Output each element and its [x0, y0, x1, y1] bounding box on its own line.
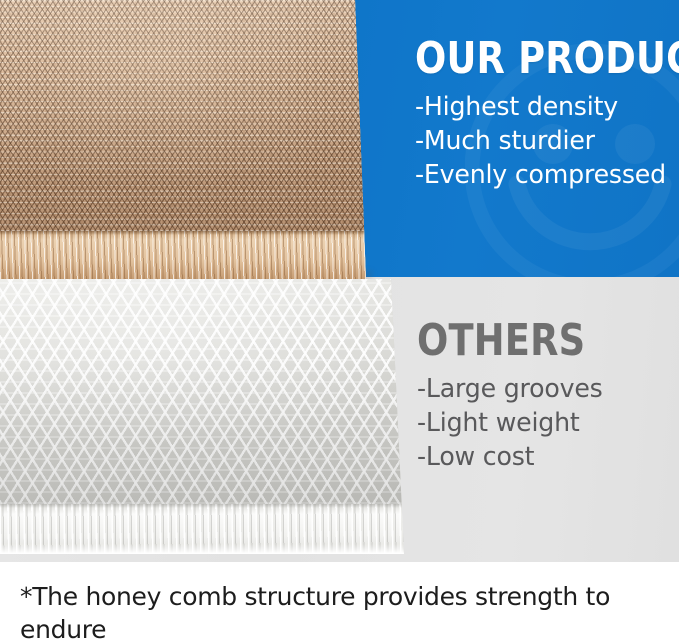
product-comparison-infographic: OUR PRODUCT -Highest density -Much sturd…: [0, 0, 679, 643]
our-product-heading: OUR PRODUCT: [415, 36, 655, 82]
others-bullet-1: -Large grooves: [417, 372, 667, 406]
others-heading: OTHERS: [417, 318, 657, 364]
footnote-text: *The honey comb structure provides stren…: [20, 580, 665, 643]
others-text-group: OTHERS -Large grooves -Light weight -Low…: [417, 318, 675, 474]
others-bullet-3: -Low cost: [417, 440, 667, 474]
our-product-bullet-2: -Much sturdier: [415, 124, 665, 158]
our-product-bullet-3: -Evenly compressed: [415, 158, 665, 192]
tan-honeycomb-mat-photo: [0, 0, 366, 279]
tan-mat-edge-band: [0, 231, 366, 279]
tan-mat-surface: [0, 0, 366, 231]
others-bullet-2: -Light weight: [417, 406, 667, 440]
gray-mat-surface: [0, 279, 404, 504]
gray-honeycomb-mat-photo: [0, 279, 404, 554]
gray-mat-edge-band: [0, 504, 404, 554]
footnote-line-1: *The honey comb structure provides stren…: [20, 580, 665, 643]
our-product-bullet-1: -Highest density: [415, 90, 665, 124]
our-product-text-group: OUR PRODUCT -Highest density -Much sturd…: [415, 36, 673, 192]
